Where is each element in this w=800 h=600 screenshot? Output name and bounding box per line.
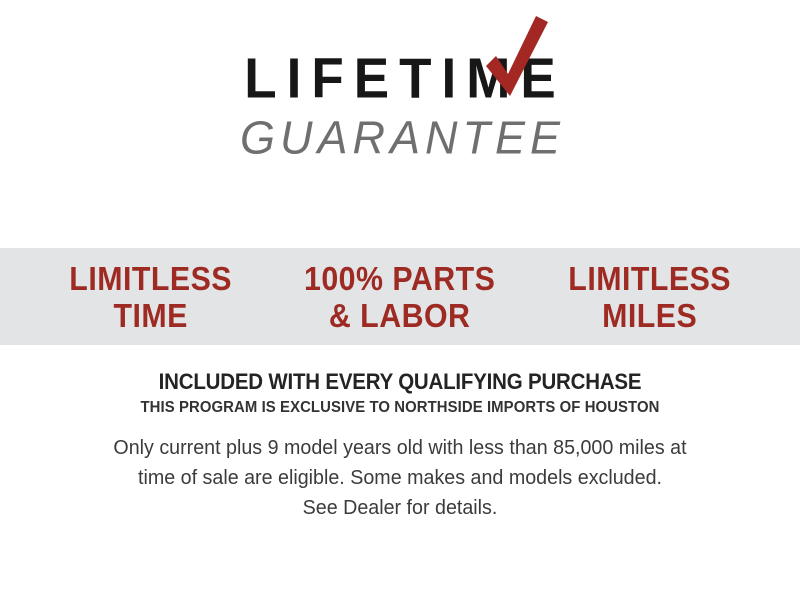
feature-column-limitless-miles: LIMITLESS MILES [535, 260, 764, 334]
feature-column-limitless-time: LIMITLESS TIME [36, 260, 265, 334]
feature-line-1: LIMITLESS [535, 260, 764, 297]
feature-line-1: 100% PARTS [285, 260, 514, 297]
feature-line-1: LIMITLESS [36, 260, 265, 297]
logo-lifetime-text: LIFETIME [234, 49, 565, 110]
disclaimer-line: See Dealer for details. [50, 493, 751, 523]
lifetime-guarantee-logo: LIFETIME GUARANTEE [0, 52, 800, 163]
logo-guarantee-text: GUARANTEE [0, 112, 800, 164]
feature-line-2: MILES [535, 297, 764, 334]
feature-column-parts-labor: 100% PARTS & LABOR [285, 260, 514, 334]
disclaimer-text: Only current plus 9 model years old with… [50, 433, 751, 523]
disclaimer-line: Only current plus 9 model years old with… [50, 433, 751, 463]
exclusivity-subhead: THIS PROGRAM IS EXCLUSIVE TO NORTHSIDE I… [28, 398, 772, 417]
logo-wordmark-wrap: LIFETIME [234, 52, 565, 110]
promo-graphic: LIFETIME GUARANTEE LIMITLESS TIME 100% P… [0, 0, 800, 600]
lower-text-block: INCLUDED WITH EVERY QUALIFYING PURCHASE … [0, 369, 800, 523]
feature-line-2: & LABOR [285, 297, 514, 334]
included-headline: INCLUDED WITH EVERY QUALIFYING PURCHASE [28, 369, 772, 395]
feature-line-2: TIME [36, 297, 265, 334]
feature-band: LIMITLESS TIME 100% PARTS & LABOR LIMITL… [0, 248, 800, 345]
disclaimer-line: time of sale are eligible. Some makes an… [50, 463, 751, 493]
